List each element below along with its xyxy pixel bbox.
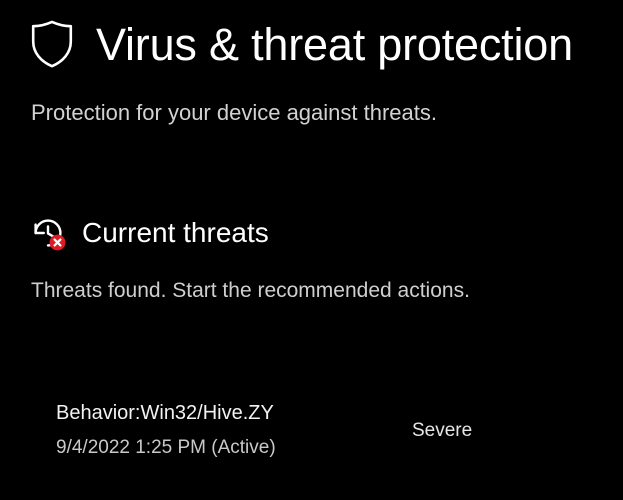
threat-date: 9/4/2022 1:25 PM (Active): [56, 435, 276, 461]
current-threats-header: Current threats: [31, 216, 269, 250]
current-threats-title: Current threats: [82, 219, 269, 247]
threat-row[interactable]: Behavior:Win32/Hive.ZY 9/4/2022 1:25 PM …: [0, 400, 623, 470]
page-subtitle: Protection for your device against threa…: [31, 100, 437, 126]
threat-severity: Severe: [412, 418, 472, 444]
threat-info: Behavior:Win32/Hive.ZY 9/4/2022 1:25 PM …: [56, 400, 276, 461]
virus-threat-protection-page: Virus & threat protection Protection for…: [0, 0, 623, 500]
threat-name: Behavior:Win32/Hive.ZY: [56, 400, 276, 426]
history-icon: [31, 216, 65, 250]
page-header: Virus & threat protection: [30, 20, 573, 68]
page-title: Virus & threat protection: [96, 22, 573, 67]
shield-icon: [30, 20, 74, 68]
current-threats-status: Threats found. Start the recommended act…: [31, 278, 470, 303]
error-badge-icon: [49, 234, 66, 251]
